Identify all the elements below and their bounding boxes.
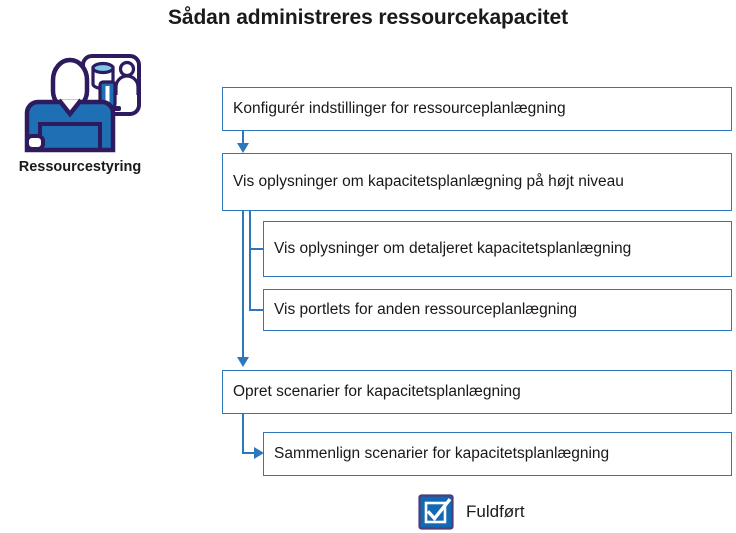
- flow-box-create-scenarios[interactable]: Opret scenarier for kapacitetsplanlægnin…: [222, 370, 732, 414]
- connector-branch-to-box4: [249, 309, 264, 311]
- connector-branch-to-box3: [249, 248, 264, 250]
- diagram-page: Sådan administreres ressourcekapacitet: [0, 0, 736, 533]
- page-title: Sådan administreres ressourcekapacitet: [0, 6, 736, 30]
- flow-box-configure-settings[interactable]: Konfigurér indstillinger for ressourcepl…: [222, 87, 732, 131]
- arrow-down-icon: [237, 143, 249, 153]
- connector-box2-to-box5: [242, 211, 244, 357]
- connector-box5-to-box6-vertical: [242, 414, 244, 454]
- completed-checkbox-icon: [418, 494, 454, 530]
- resource-management-icon: [15, 50, 145, 155]
- flow-box-high-level-capacity[interactable]: Vis oplysninger om kapacitetsplanlægning…: [222, 153, 732, 211]
- resource-management-block: Ressourcestyring: [0, 50, 160, 175]
- connector-branch-riser: [249, 211, 251, 311]
- legend-label: Fuldført: [466, 502, 525, 522]
- legend: Fuldført: [418, 494, 525, 530]
- flow-box-label: Vis portlets for anden ressourceplanlægn…: [274, 300, 577, 320]
- arrow-down-icon: [237, 357, 249, 367]
- flow-box-label: Vis oplysninger om kapacitetsplanlægning…: [233, 172, 624, 192]
- flow-box-detailed-capacity[interactable]: Vis oplysninger om detaljeret kapacitets…: [263, 221, 732, 277]
- flow-box-label: Vis oplysninger om detaljeret kapacitets…: [274, 239, 631, 259]
- flow-box-label: Sammenlign scenarier for kapacitetsplanl…: [274, 444, 609, 464]
- flow-box-label: Opret scenarier for kapacitetsplanlægnin…: [233, 382, 521, 402]
- arrow-right-icon: [254, 447, 264, 459]
- resource-management-label: Ressourcestyring: [0, 159, 160, 175]
- flow-box-compare-scenarios[interactable]: Sammenlign scenarier for kapacitetsplanl…: [263, 432, 732, 476]
- flow-box-other-portlets[interactable]: Vis portlets for anden ressourceplanlægn…: [263, 289, 732, 331]
- flow-box-label: Konfigurér indstillinger for ressourcepl…: [233, 99, 566, 119]
